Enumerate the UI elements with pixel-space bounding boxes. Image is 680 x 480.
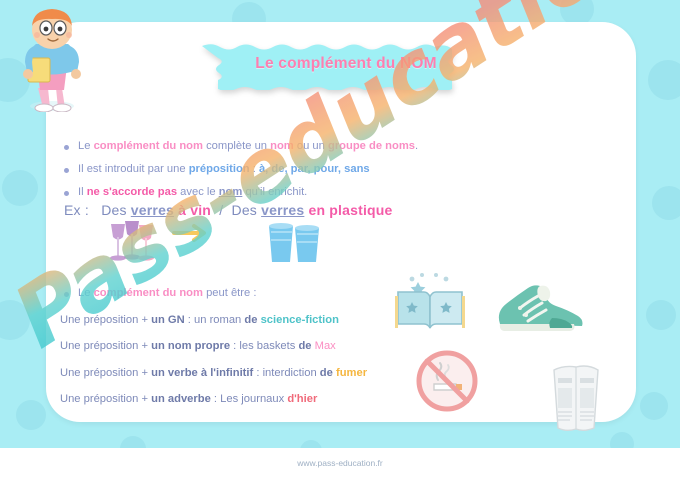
title-banner: Le complément du NOM (196, 38, 496, 90)
rule-text: Le complément du nom complète un nom ou … (78, 140, 418, 152)
second-rule-text: Le complément du nom peut être : (78, 287, 256, 299)
second-rule-item: Le complément du nom peut être : (64, 287, 256, 299)
construction-text: Une préposition + un nom propre : les ba… (60, 340, 336, 352)
rule-item: Il ne s'accorde pas avec le nom qu'il en… (64, 186, 307, 198)
construction-text: Une préposition + un adverbe : Les journ… (60, 393, 317, 405)
construction-text: Une préposition + un verbe à l'infinitif… (60, 367, 367, 379)
example-label: Ex : (64, 202, 89, 218)
bullet-dot (64, 145, 69, 150)
bullet-dot (64, 191, 69, 196)
rule-item: Le complément du nom complète un nom ou … (64, 140, 418, 152)
rule-text: Il est introduit par une préposition : à… (78, 163, 370, 175)
rule-text: Il ne s'accorde pas avec le nom qu'il en… (78, 186, 307, 198)
bullet-dot (64, 168, 69, 173)
construction-nom-propre: Une préposition + un nom propre : les ba… (60, 340, 336, 352)
page-title: Le complément du NOM (196, 38, 496, 90)
example-right-complement: en plastique (308, 202, 392, 218)
example-right-noun: verres (261, 202, 304, 218)
construction-infinitif: Une préposition + un verbe à l'infinitif… (60, 367, 367, 379)
footer-url: www.pass-education.fr (0, 458, 680, 468)
construction-gn: Une préposition + un GN : un roman de sc… (60, 314, 339, 326)
example-line: Ex : Des verres à vin / Des verres en pl… (64, 202, 393, 218)
example-left-prefix: Des (101, 202, 131, 218)
rule-item: Il est introduit par une préposition : à… (64, 163, 370, 175)
construction-adverbe: Une préposition + un adverbe : Les journ… (60, 393, 317, 405)
example-left-complement: à vin (178, 202, 211, 218)
bullet-dot (64, 292, 69, 297)
construction-text: Une préposition + un GN : un roman de sc… (60, 314, 339, 326)
example-left-noun: verres (131, 202, 174, 218)
example-right-prefix: Des (232, 202, 262, 218)
